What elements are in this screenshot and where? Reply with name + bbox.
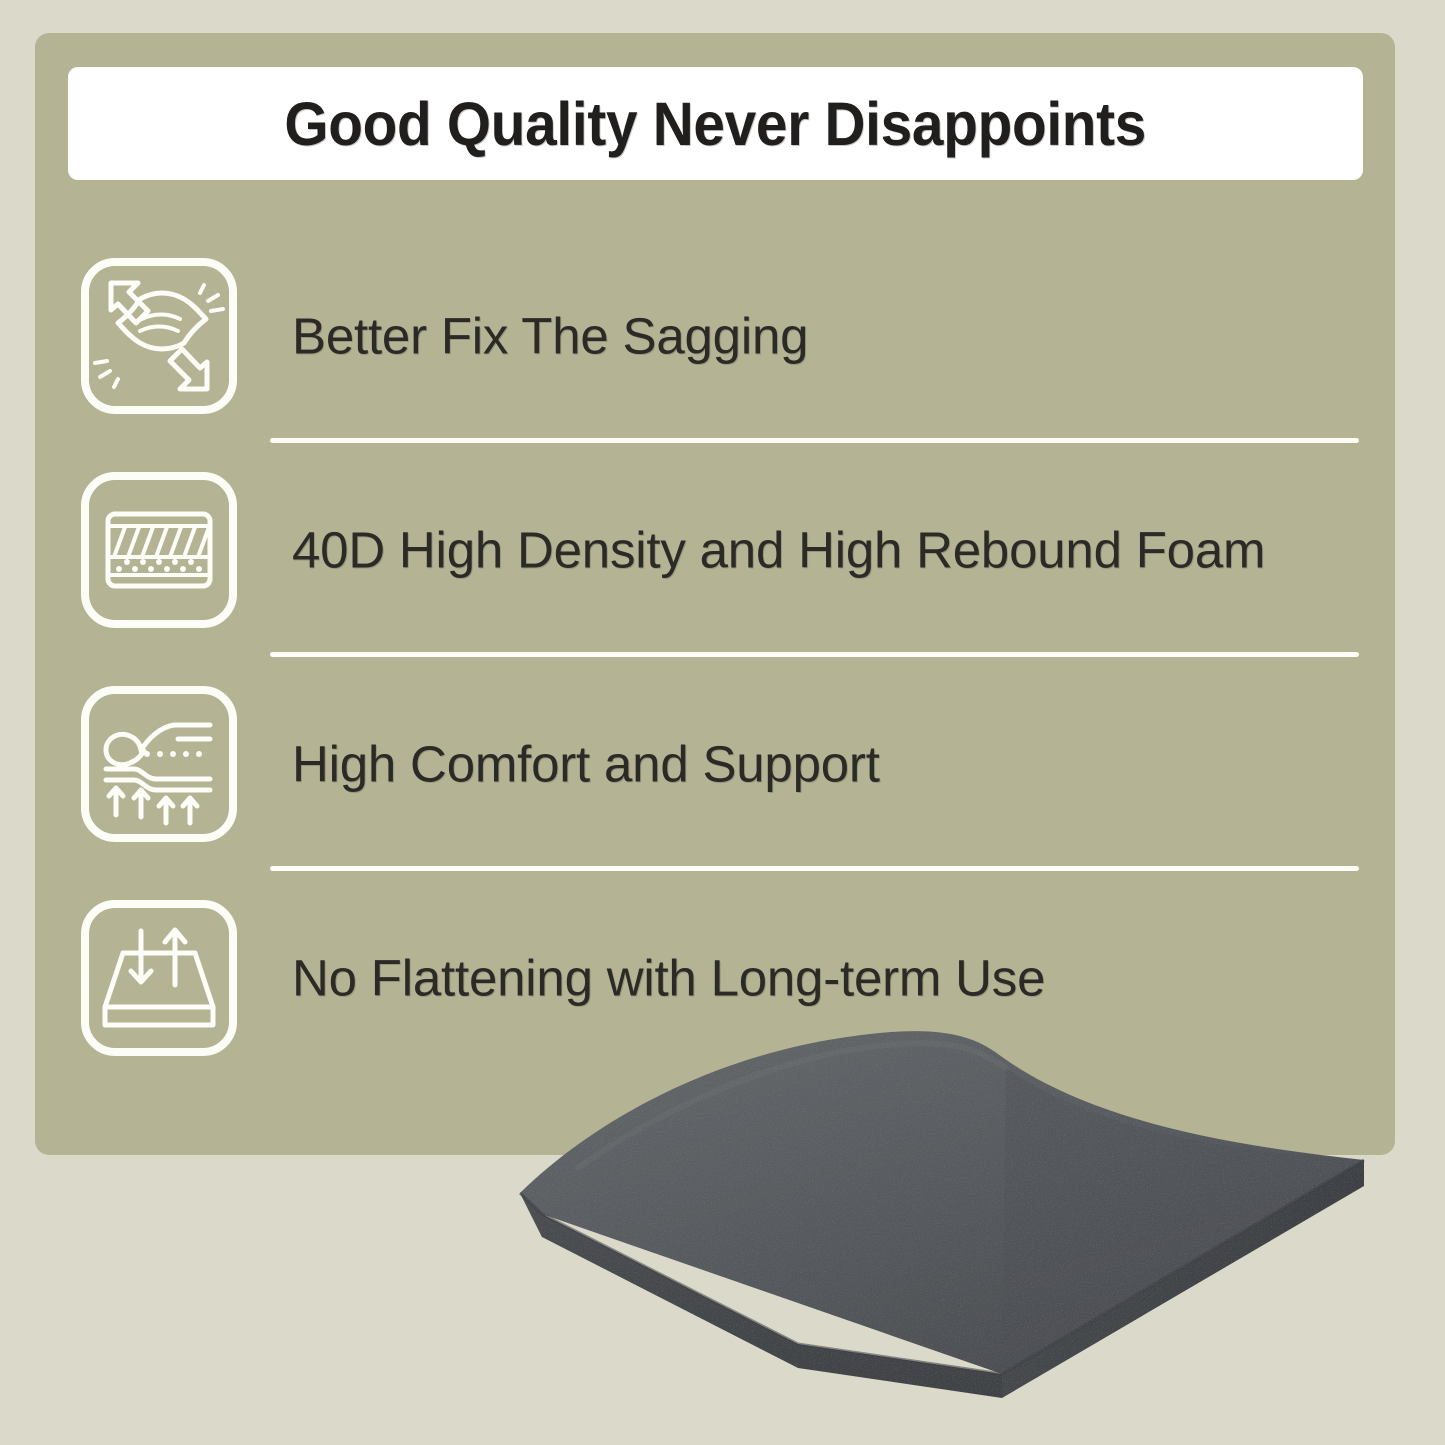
product-image [498,1018,1445,1418]
page-title: Good Quality Never Disappoints [285,89,1147,159]
feature-list: Better Fix The Sagging [35,229,1395,1085]
feature-label: 40D High Density and High Rebound Foam [292,521,1265,580]
feature-row: High Comfort and Support [35,657,1395,871]
feature-label: No Flattening with Long-term Use [292,949,1045,1008]
headline-banner: Good Quality Never Disappoints [68,67,1363,180]
feature-row: Better Fix The Sagging [35,229,1395,443]
feature-row: 40D High Density and High Rebound Foam [35,443,1395,657]
feature-label: High Comfort and Support [292,735,880,794]
body-support-icon [78,683,240,845]
foam-layers-icon [78,469,240,631]
stretch-arrows-icon [78,255,240,417]
feature-panel: Good Quality Never Disappoints [35,33,1395,1155]
page-root: Good Quality Never Disappoints [0,0,1445,1445]
rebound-arrows-icon [78,897,240,1059]
feature-label: Better Fix The Sagging [292,307,808,366]
